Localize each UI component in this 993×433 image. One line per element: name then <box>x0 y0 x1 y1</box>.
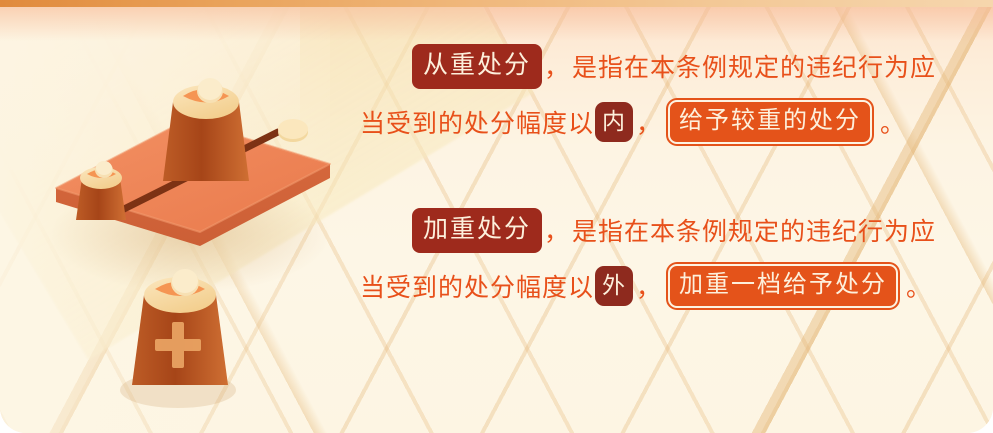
paragraph-2-line-1-text: 是指在本条例规定的违纪行为应 <box>572 212 936 248</box>
paragraph-cong-zhong-chu-fen: 从重处分 ， 是指在本条例规定的违纪行为应 当受到的处分幅度以 内 ， 给予较重… <box>360 38 920 150</box>
term-tag-cong-zhong-chu-fen[interactable]: 从重处分 <box>412 44 542 89</box>
text-content: 从重处分 ， 是指在本条例规定的违纪行为应 当受到的处分幅度以 内 ， 给予较重… <box>360 38 920 314</box>
paragraph-1-line-1: 从重处分 ， 是指在本条例规定的违纪行为应 <box>360 38 920 94</box>
paragraph-2-line-1: 加重处分 ， 是指在本条例规定的违纪行为应 <box>360 202 920 258</box>
comma-3: ， <box>542 212 572 248</box>
chip-nei[interactable]: 内 <box>595 102 633 142</box>
comma-2: ， <box>634 104 664 140</box>
isometric-illustration <box>40 60 370 410</box>
top-glow <box>0 7 993 41</box>
paragraph-jia-zhong-chu-fen: 加重处分 ， 是指在本条例规定的违纪行为应 当受到的处分幅度以 外 ， 加重一档… <box>360 202 920 314</box>
chip-wai[interactable]: 外 <box>595 266 633 306</box>
paragraph-1-line-2-text-before: 当受到的处分幅度以 <box>360 104 594 140</box>
action-tag-jiazhong-yidang-jiyu-chufen[interactable]: 加重一档给予处分 <box>668 264 898 308</box>
term-tag-jia-zhong-chu-fen[interactable]: 加重处分 <box>412 208 542 253</box>
action-tag-jiyu-jiaozhong-de-chufen[interactable]: 给予较重的处分 <box>668 100 872 144</box>
period-1: 。 <box>878 104 908 140</box>
infographic-card: 从重处分 ， 是指在本条例规定的违纪行为应 当受到的处分幅度以 内 ， 给予较重… <box>0 0 993 433</box>
paragraph-1-line-1-text: 是指在本条例规定的违纪行为应 <box>572 48 936 84</box>
comma-4: ， <box>634 268 664 304</box>
top-accent-bar <box>0 0 993 7</box>
paragraph-1-line-2: 当受到的处分幅度以 内 ， 给予较重的处分 。 <box>360 94 920 150</box>
paragraph-2-line-2-text-before: 当受到的处分幅度以 <box>360 268 594 304</box>
paragraph-2-line-2: 当受到的处分幅度以 外 ， 加重一档给予处分 。 <box>360 258 920 314</box>
comma-1: ， <box>542 48 572 84</box>
weight-large-on-platform <box>163 78 249 181</box>
period-2: 。 <box>904 268 934 304</box>
